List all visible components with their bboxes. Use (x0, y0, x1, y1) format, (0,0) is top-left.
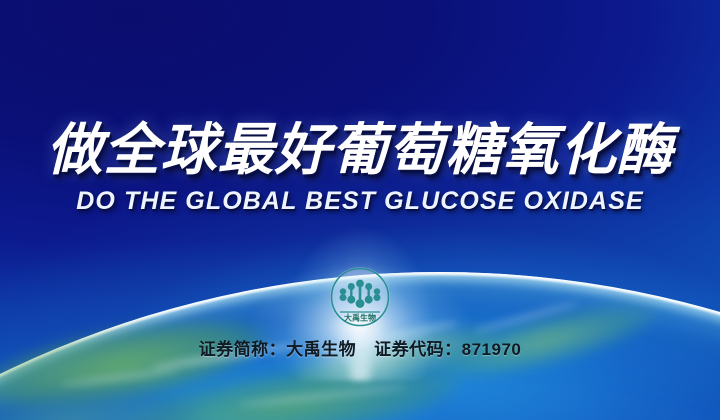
stock-code-value: 871970 (462, 340, 522, 359)
promo-banner: 做全球最好葡萄糖氧化酶 DO THE GLOBAL BEST GLUCOSE O… (0, 0, 720, 420)
headline-block: 做全球最好葡萄糖氧化酶 DO THE GLOBAL BEST GLUCOSE O… (0, 118, 720, 216)
headline-chinese: 做全球最好葡萄糖氧化酶 (0, 118, 720, 182)
dayu-biology-logo-icon: 大禹生物 (329, 266, 391, 328)
company-logo: 大禹生物 (329, 266, 391, 328)
headline-english: DO THE GLOBAL BEST GLUCOSE OXIDASE (0, 186, 720, 216)
stock-info-line: 证券简称：大禹生物证券代码：871970 (0, 338, 720, 362)
stock-code-label: 证券代码： (374, 340, 462, 359)
stock-name-label: 证券简称： (199, 340, 287, 359)
stock-name-value: 大禹生物 (286, 340, 356, 359)
logo-wordmark: 大禹生物 (344, 313, 376, 323)
